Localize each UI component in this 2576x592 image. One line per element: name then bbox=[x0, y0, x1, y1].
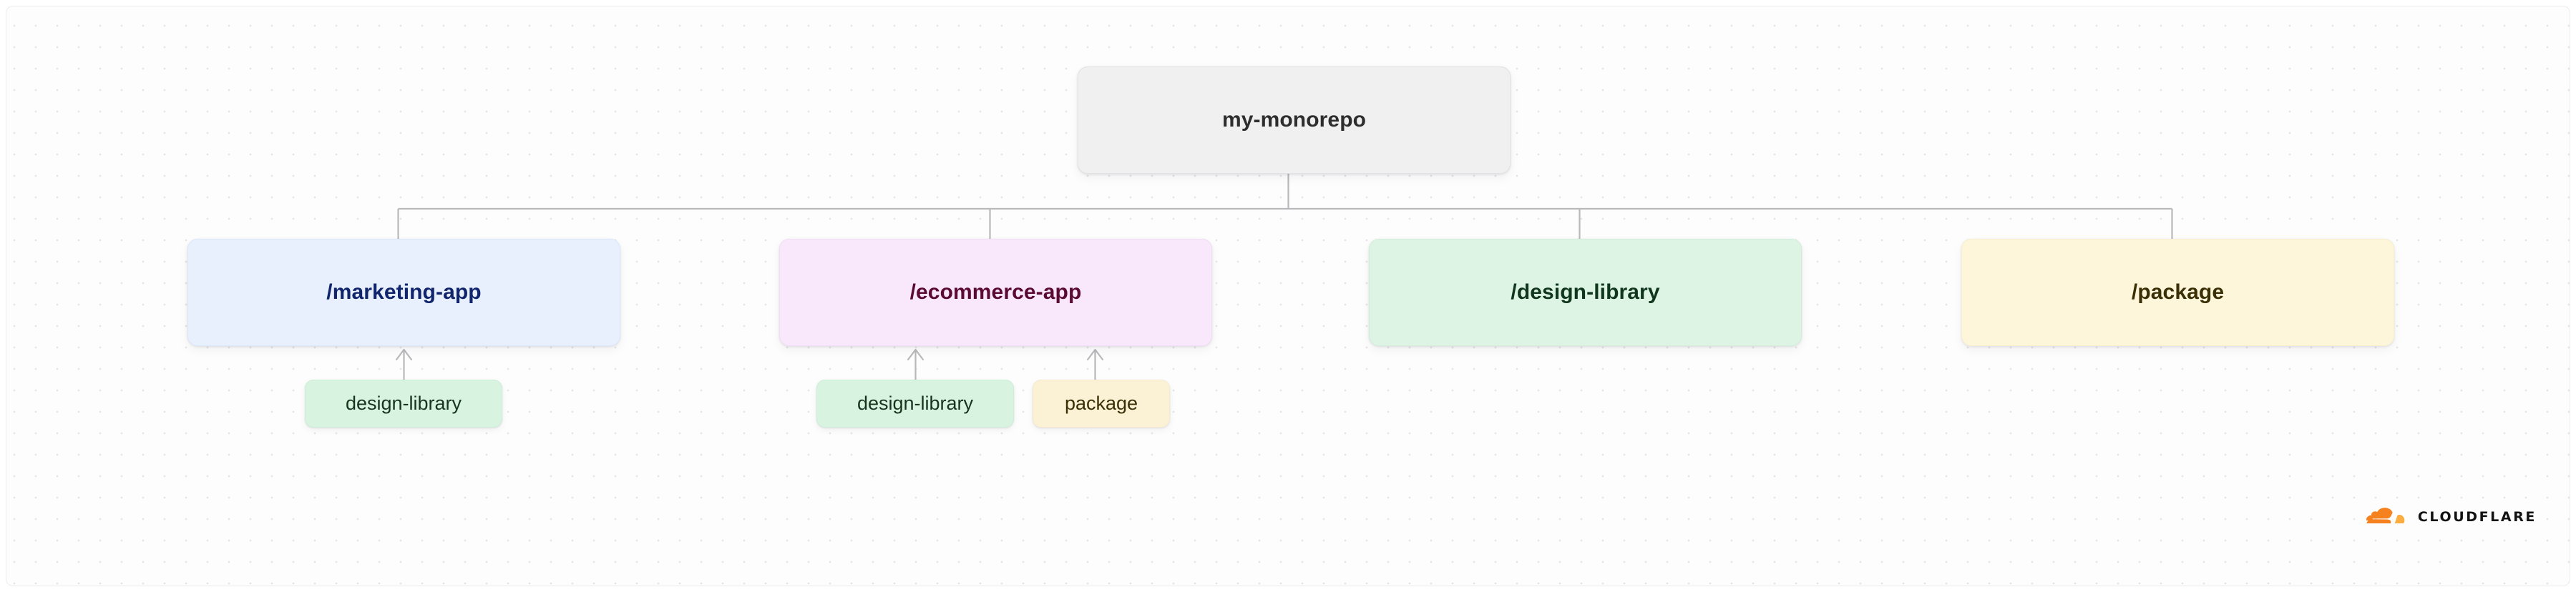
node-label: /package bbox=[2132, 280, 2224, 305]
dependency-pill-label: design-library bbox=[346, 393, 462, 415]
node-ecommerce-app[interactable]: /ecommerce-app bbox=[779, 239, 1212, 346]
cloudflare-cloud-icon bbox=[2365, 503, 2409, 531]
edge-dep-ecommerce-package bbox=[1088, 350, 1103, 380]
dependency-pill-design-library[interactable]: design-library bbox=[305, 380, 502, 428]
edge-dep-ecommerce-design-library bbox=[908, 350, 923, 380]
node-marketing-app[interactable]: /marketing-app bbox=[187, 239, 620, 346]
dependency-pill-label: design-library bbox=[857, 393, 973, 415]
cloudflare-wordmark: CLOUDFLARE bbox=[2418, 510, 2537, 524]
dependency-pill-label: package bbox=[1065, 393, 1138, 415]
node-label: /marketing-app bbox=[326, 280, 481, 305]
diagram-canvas[interactable]: my-monorepo /marketing-app design-librar… bbox=[6, 6, 2570, 586]
edge-dep-marketing-design-library bbox=[396, 350, 411, 380]
node-label: /design-library bbox=[1511, 280, 1659, 305]
dependency-pill-design-library[interactable]: design-library bbox=[816, 380, 1014, 428]
node-design-library[interactable]: /design-library bbox=[1369, 239, 1802, 346]
node-package[interactable]: /package bbox=[1961, 239, 2394, 346]
node-my-monorepo[interactable]: my-monorepo bbox=[1078, 66, 1511, 174]
cloudflare-logo: CLOUDFLARE bbox=[2365, 497, 2537, 537]
node-label: /ecommerce-app bbox=[910, 280, 1082, 305]
node-label: my-monorepo bbox=[1222, 108, 1366, 132]
dependency-pill-package[interactable]: package bbox=[1033, 380, 1170, 428]
